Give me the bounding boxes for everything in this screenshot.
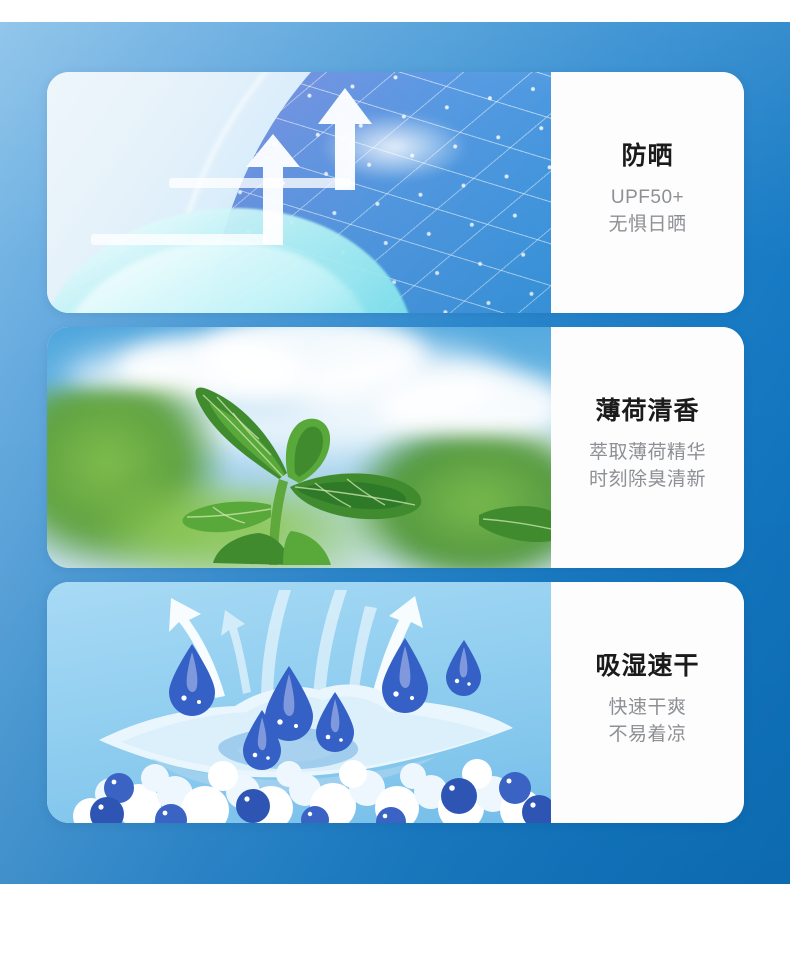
card-title: 薄荷清香 (595, 399, 699, 424)
card-subtitle-line2: 时刻除臭清新 (589, 467, 706, 494)
product-feature-page: 防晒 UPF50+ 无惧日晒 (0, 0, 790, 962)
card-subtitle: 萃取薄荷精华 时刻除臭清新 (589, 440, 706, 494)
card-subtitle: 快速干爽 不易着凉 (608, 695, 686, 749)
uv-mesh-illustration (47, 72, 551, 313)
uv-arrows-group (47, 72, 551, 313)
water-droplet (446, 640, 481, 696)
card-subtitle-line1: 快速干爽 (608, 695, 686, 722)
moisture-wicking-illustration (47, 582, 551, 823)
feature-card-mint-fragrance[interactable]: 薄荷清香 萃取薄荷精华 时刻除臭清新 (47, 327, 744, 568)
mint-leaves-photo (47, 327, 551, 568)
mint-sprig (47, 327, 551, 568)
card-text-moisture-wicking: 吸湿速干 快速干爽 不易着凉 (551, 582, 744, 823)
card-subtitle-line1: UPF50+ (608, 185, 686, 212)
wicking-scene (47, 582, 551, 823)
card-title: 吸湿速干 (595, 654, 699, 679)
feature-card-sun-protection[interactable]: 防晒 UPF50+ 无惧日晒 (47, 72, 744, 313)
card-subtitle: UPF50+ 无惧日晒 (608, 185, 686, 239)
card-subtitle-line1: 萃取薄荷精华 (589, 440, 706, 467)
feature-card-moisture-wicking[interactable]: 吸湿速干 快速干爽 不易着凉 (47, 582, 744, 823)
card-subtitle-line2: 不易着凉 (608, 722, 686, 749)
card-text-sun-protection: 防晒 UPF50+ 无惧日晒 (551, 72, 744, 313)
card-text-mint-fragrance: 薄荷清香 萃取薄荷精华 时刻除臭清新 (551, 327, 744, 568)
card-title: 防晒 (621, 144, 673, 169)
card-subtitle-line2: 无惧日晒 (608, 212, 686, 239)
